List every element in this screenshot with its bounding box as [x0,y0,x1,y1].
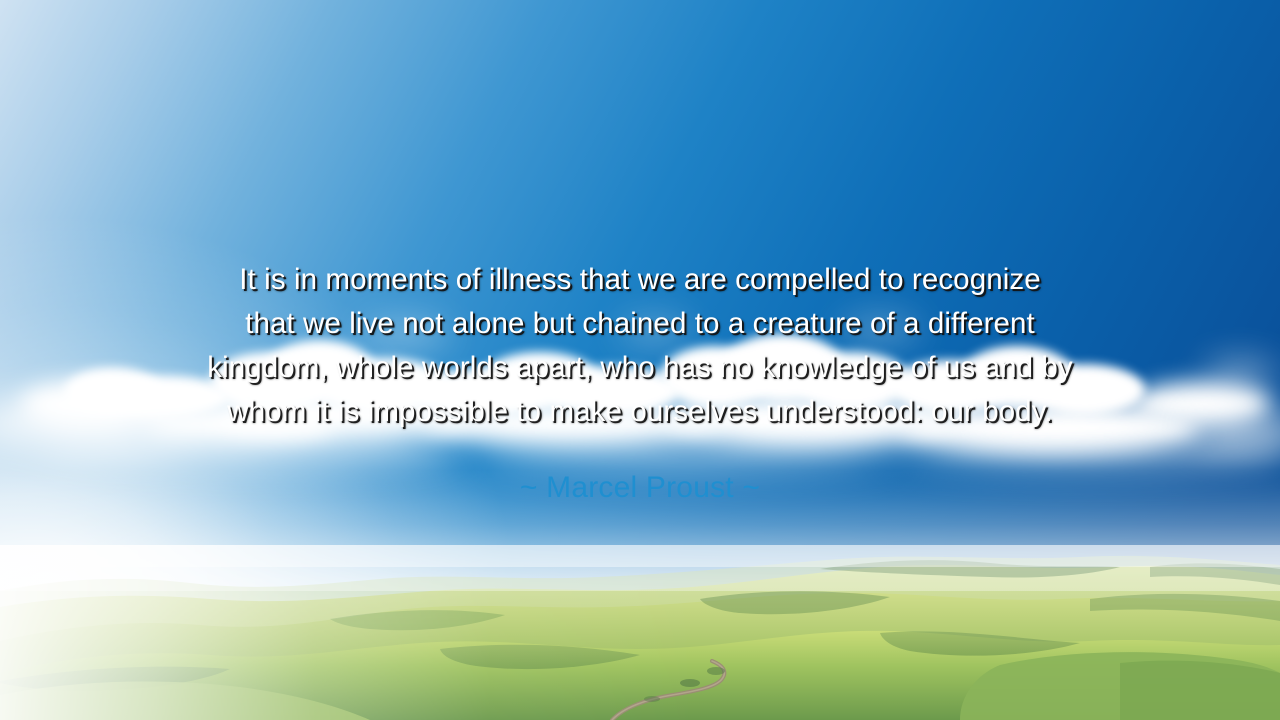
quote-image: It is in moments of illness that we are … [0,0,1280,720]
hills-svg [0,545,1280,720]
rolling-green-hills [0,545,1280,720]
quote-block: It is in moments of illness that we are … [60,258,1220,434]
quote-text: It is in moments of illness that we are … [60,258,1220,434]
quote-attribution: ~ Marcel Proust ~ [0,470,1280,506]
